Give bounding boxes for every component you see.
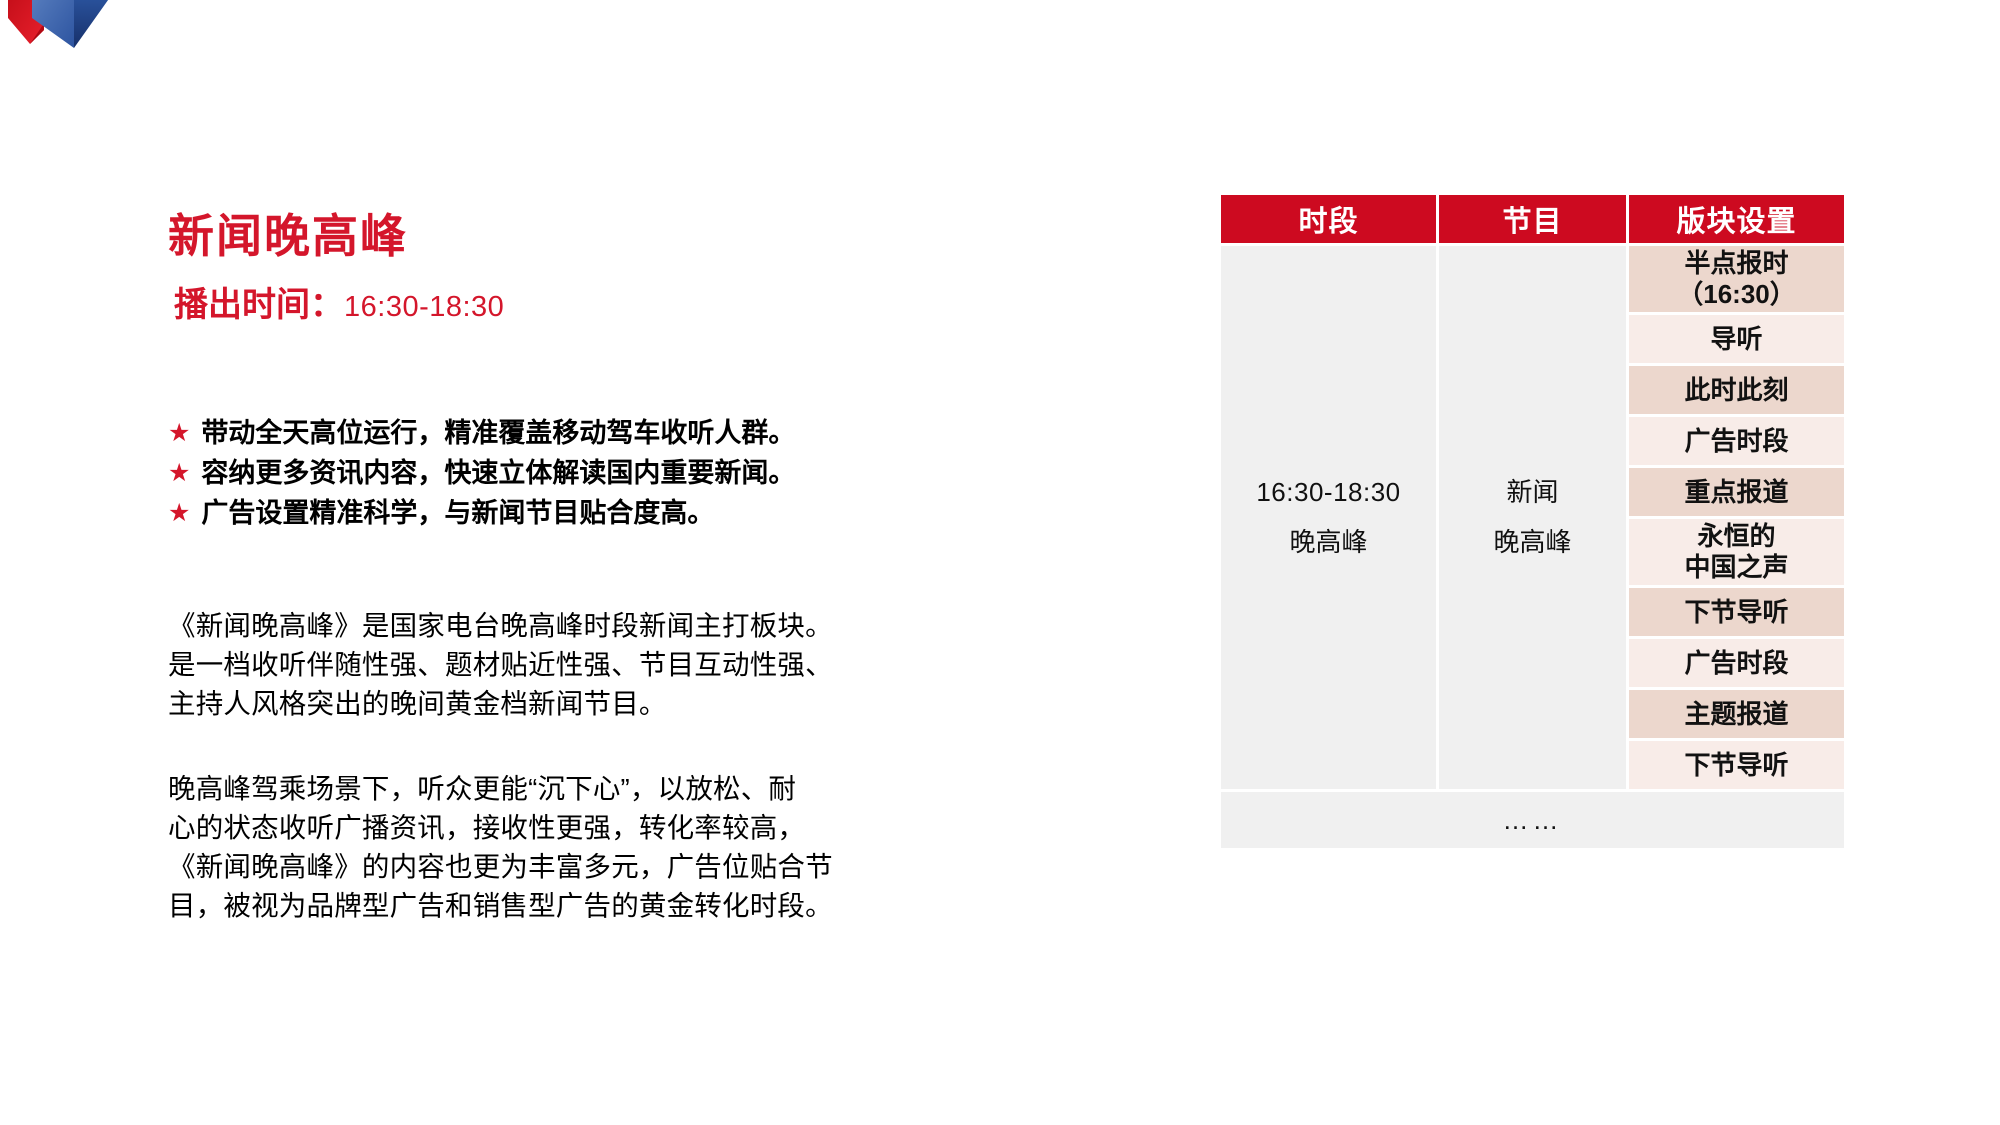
program-line-2: 晚高峰 [1439,518,1626,567]
cell-section: 导听 [1629,315,1844,363]
paragraph-line: 晚高峰驾乘场景下，听众更能“沉下心”，以放松、耐 [168,769,1008,808]
paragraph-line: 目，被视为品牌型广告和销售型广告的黄金转化时段。 [168,886,1008,925]
page-title: 新闻晚高峰 [168,210,1008,263]
table-footer-row: …… [1221,792,1844,848]
section-line-1: 广告时段 [1629,426,1844,457]
column-header-sections: 版块设置 [1629,195,1844,243]
list-item: ★ 容纳更多资讯内容，快速立体解读国内重要新闻。 [168,454,1008,494]
airtime-value: 16:30-18:30 [344,291,504,323]
paragraph-line: 心的状态收听广播资讯，接收性更强，转化率较高， [168,808,1008,847]
highlight-text: 容纳更多资讯内容，快速立体解读国内重要新闻。 [201,454,795,494]
paragraph: 《新闻晚高峰》是国家电台晚高峰时段新闻主打板块。 是一档收听伴随性强、题材贴近性… [168,606,1008,723]
description-body: 《新闻晚高峰》是国家电台晚高峰时段新闻主打板块。 是一档收听伴随性强、题材贴近性… [168,606,1008,925]
highlight-text: 带动全天高位运行，精准覆盖移动驾车收听人群。 [201,414,795,454]
table-row: 16:30-18:30 晚高峰 新闻 晚高峰 半点报时 （16:30） [1221,246,1844,312]
cell-section: 广告时段 [1629,417,1844,465]
section-line-1: 半点报时 [1629,248,1844,279]
cell-timeslot: 16:30-18:30 晚高峰 [1221,246,1436,789]
cell-program: 新闻 晚高峰 [1439,246,1626,789]
paragraph-line: 《新闻晚高峰》的内容也更为丰富多元，广告位贴合节 [168,847,1008,886]
airtime-line: 播出时间：16:30-18:30 [174,285,1008,326]
highlight-text: 广告设置精准科学，与新闻节目贴合度高。 [201,494,714,534]
paragraph-line: 主持人风格突出的晚间黄金档新闻节目。 [168,684,1008,723]
program-info-panel: 新闻晚高峰 播出时间：16:30-18:30 ★ 带动全天高位运行，精准覆盖移动… [168,210,1008,925]
column-header-program: 节目 [1439,195,1626,243]
highlights-list: ★ 带动全天高位运行，精准覆盖移动驾车收听人群。 ★ 容纳更多资讯内容，快速立体… [168,414,1008,534]
w-chevron-logo [0,0,210,70]
section-line-2: 中国之声 [1629,552,1844,583]
cell-section: 半点报时 （16:30） [1629,246,1844,312]
star-icon: ★ [168,501,190,526]
cell-section: 此时此刻 [1629,366,1844,414]
column-header-timeslot: 时段 [1221,195,1436,243]
section-line-1: 主题报道 [1629,699,1844,730]
table-header-row: 时段 节目 版块设置 [1221,195,1844,243]
section-line-1: 永恒的 [1629,521,1844,552]
schedule-table: 时段 节目 版块设置 16:30-18:30 晚高峰 新闻 晚高峰 半点报时 （… [1218,192,1847,851]
paragraph-line: 《新闻晚高峰》是国家电台晚高峰时段新闻主打板块。 [168,606,1008,645]
cell-section: 下节导听 [1629,588,1844,636]
section-line-1: 广告时段 [1629,648,1844,679]
paragraph-line: 是一档收听伴随性强、题材贴近性强、节目互动性强、 [168,645,1008,684]
timeslot-time: 16:30-18:30 [1221,468,1436,517]
section-line-1: 导听 [1629,324,1844,355]
cell-section: 主题报道 [1629,690,1844,738]
section-line-2: （16:30） [1629,279,1844,310]
airtime-label: 播出时间： [174,286,344,324]
star-icon: ★ [168,461,190,486]
cell-continuation: …… [1221,792,1844,848]
list-item: ★ 广告设置精准科学，与新闻节目贴合度高。 [168,494,1008,534]
program-line-1: 新闻 [1439,468,1626,517]
cell-section: 下节导听 [1629,741,1844,789]
timeslot-name: 晚高峰 [1221,518,1436,567]
section-line-1: 下节导听 [1629,750,1844,781]
list-item: ★ 带动全天高位运行，精准覆盖移动驾车收听人群。 [168,414,1008,454]
section-line-1: 此时此刻 [1629,375,1844,406]
star-icon: ★ [168,421,190,446]
paragraph: 晚高峰驾乘场景下，听众更能“沉下心”，以放松、耐 心的状态收听广播资讯，接收性更… [168,769,1008,925]
cell-section: 永恒的 中国之声 [1629,519,1844,585]
section-line-1: 下节导听 [1629,597,1844,628]
section-line-1: 重点报道 [1629,477,1844,508]
cell-section: 广告时段 [1629,639,1844,687]
cell-section: 重点报道 [1629,468,1844,516]
